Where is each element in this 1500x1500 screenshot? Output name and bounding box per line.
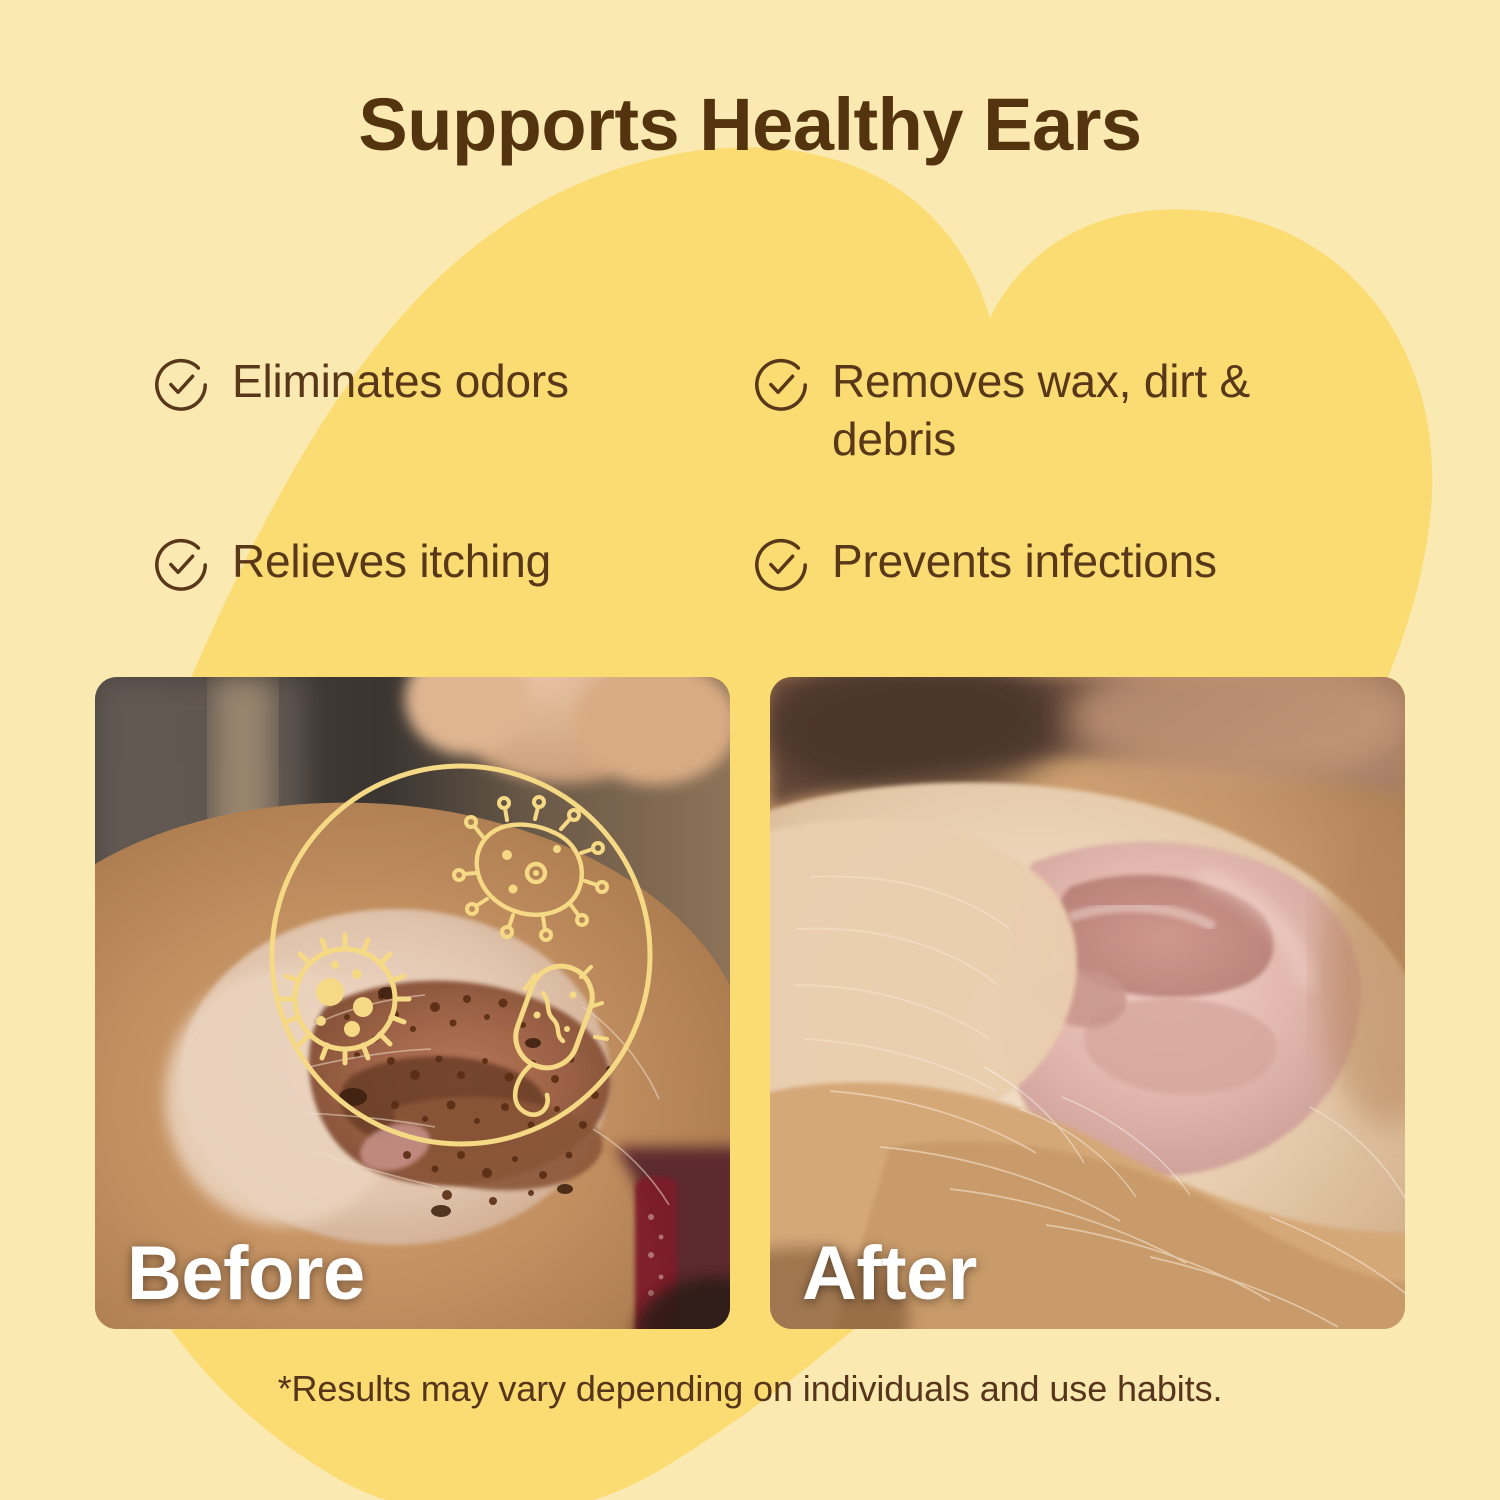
check-circle-icon bbox=[750, 354, 812, 416]
after-photo-panel: After bbox=[770, 677, 1405, 1329]
benefit-item-eliminates-odors: Eliminates odors bbox=[150, 352, 750, 532]
benefit-label: Prevents infections bbox=[832, 532, 1217, 590]
benefit-label: Eliminates odors bbox=[232, 352, 569, 410]
check-circle-icon bbox=[750, 534, 812, 596]
before-photo-panel: Before bbox=[95, 677, 730, 1329]
check-circle-icon bbox=[150, 534, 212, 596]
check-circle-icon bbox=[150, 354, 212, 416]
disclaimer-text: *Results may vary depending on individua… bbox=[0, 1368, 1500, 1410]
benefit-item-prevents-infections: Prevents infections bbox=[750, 532, 1365, 596]
page-title: Supports Healthy Ears bbox=[0, 86, 1500, 164]
product-benefit-graphic: Supports Healthy Ears Eliminates odors R… bbox=[0, 0, 1500, 1500]
benefit-label: Relieves itching bbox=[232, 532, 551, 590]
benefit-item-relieves-itching: Relieves itching bbox=[150, 532, 750, 596]
after-caption: After bbox=[802, 1230, 977, 1317]
benefit-label: Removes wax, dirt & debris bbox=[832, 352, 1352, 469]
benefit-item-removes-wax-dirt-debris: Removes wax, dirt & debris bbox=[750, 352, 1365, 532]
before-caption: Before bbox=[127, 1230, 365, 1317]
benefits-list: Eliminates odors Removes wax, dirt & deb… bbox=[150, 352, 1365, 596]
